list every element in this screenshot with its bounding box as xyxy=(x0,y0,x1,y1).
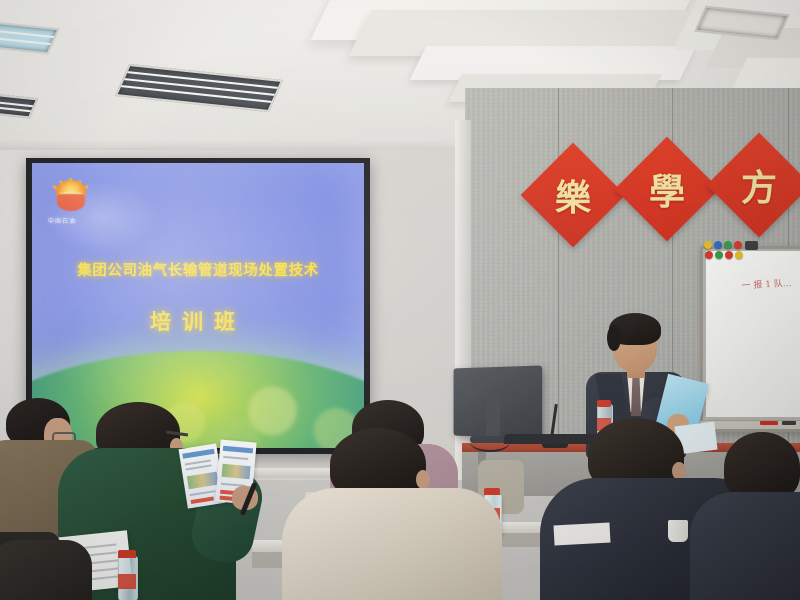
banner-character: 方 xyxy=(722,148,796,222)
slide-globe-graphic xyxy=(32,351,364,448)
documents-on-desk xyxy=(554,523,611,546)
recessed-grille-light-icon xyxy=(0,94,38,119)
paper-cup xyxy=(668,520,688,542)
magnet-icon xyxy=(734,241,742,249)
wall-banner-diamond: 樂 xyxy=(521,143,626,248)
whiteboard-magnet-group xyxy=(704,241,748,263)
slide-subtitle-line: 培训班 xyxy=(32,306,364,336)
magnet-icon xyxy=(735,251,743,259)
bottle-cap-icon xyxy=(597,400,611,407)
cnpc-logo-caption: 中国石油 xyxy=(48,216,76,225)
magnet-icon xyxy=(725,251,733,259)
monitor-cable xyxy=(470,432,510,452)
screen-glare xyxy=(45,180,158,254)
projection-screen: 中国石油 集团公司油气长输管道现场处置技术 培训班 xyxy=(32,163,364,448)
magnet-icon xyxy=(724,241,732,249)
bottle-cap-icon xyxy=(484,488,500,495)
presenter-hair-side xyxy=(607,325,621,351)
whiteboard-handwriting: 一 报 1 队… xyxy=(741,277,800,312)
slide-title-line: 集团公司油气长输管道现场处置技术 xyxy=(32,259,364,280)
banner-character: 樂 xyxy=(536,158,610,232)
whiteboard-surface xyxy=(706,251,800,417)
attendee-cream-jacket-body xyxy=(282,488,502,600)
bottle-cap-icon xyxy=(118,550,136,558)
bottle-label xyxy=(118,574,136,589)
wall-banner-diamond: 學 xyxy=(615,137,720,242)
magnet-icon xyxy=(705,251,713,259)
conference-room-photo: 中国石油 集团公司油气长输管道现场处置技术 培训班 樂 學 方 一 报 1 队… xyxy=(0,0,800,600)
recessed-grille-light-icon xyxy=(115,64,283,112)
attendee-foreground-left-body xyxy=(0,540,92,600)
banner-character: 學 xyxy=(630,152,704,226)
keyboard xyxy=(503,434,601,444)
magnet-icon xyxy=(715,251,723,259)
attendee-dark-suit-right-body xyxy=(690,492,800,600)
cnpc-petrochina-sun-logo-icon xyxy=(54,180,88,214)
recessed-grille-light-icon xyxy=(0,22,60,55)
wall-panel-seam xyxy=(558,88,559,488)
red-marker-icon xyxy=(760,421,778,425)
magnet-icon xyxy=(704,241,712,249)
black-marker-icon xyxy=(782,421,796,425)
magnet-icon xyxy=(714,241,722,249)
attendee-cream-jacket-ear xyxy=(416,470,430,489)
